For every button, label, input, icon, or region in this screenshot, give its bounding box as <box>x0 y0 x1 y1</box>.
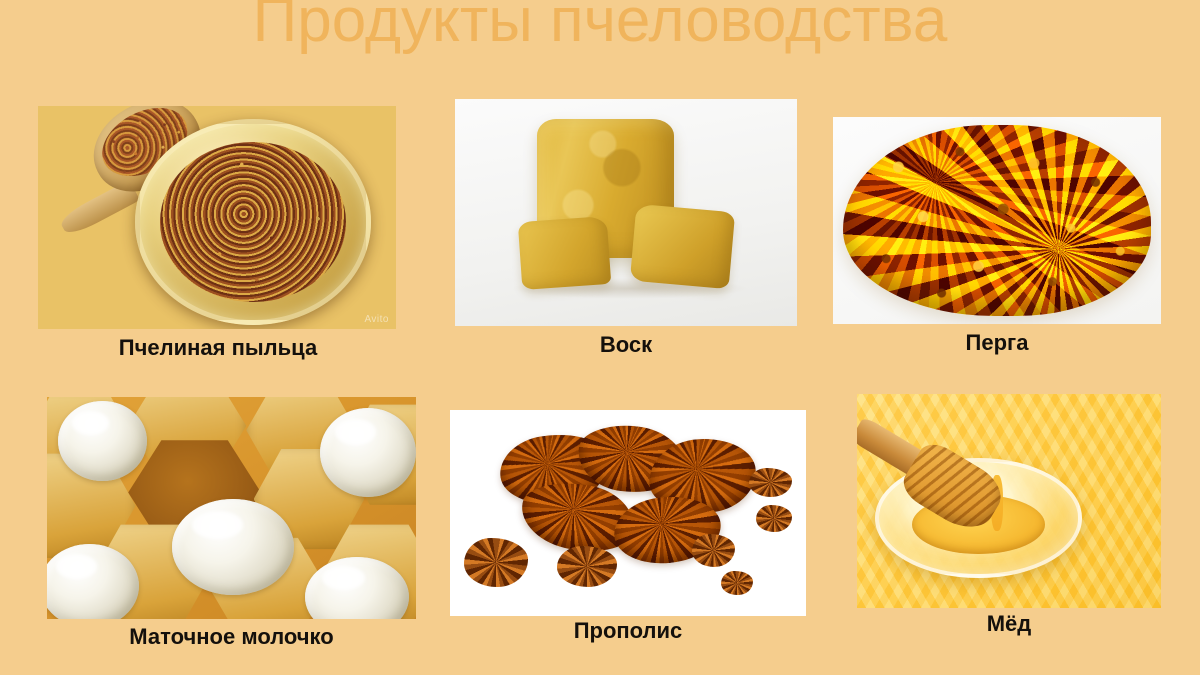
wax-chunk-right-shape <box>630 204 736 290</box>
product-image-royal-jelly <box>47 397 416 619</box>
product-card-wax: Воск <box>455 99 797 326</box>
product-caption-propolis: Прополис <box>450 617 806 645</box>
glass-jar-shape <box>135 119 371 324</box>
product-image-wax <box>455 99 797 326</box>
product-image-propolis <box>450 410 806 616</box>
product-card-honey: Мёд <box>857 394 1161 608</box>
propolis-crumb-shape <box>721 571 753 596</box>
propolis-crumb-shape <box>464 538 528 587</box>
propolis-crumb-shape <box>692 534 735 567</box>
propolis-crumb-shape <box>557 546 618 587</box>
product-caption-perga: Перга <box>833 329 1161 357</box>
royal-jelly-larva-shape <box>320 408 416 497</box>
product-card-pollen: Avito Пчелиная пыльца <box>38 106 398 329</box>
product-image-perga <box>833 117 1161 324</box>
royal-jelly-larva-shape <box>58 401 147 481</box>
propolis-photo-art <box>450 410 806 616</box>
royal-jelly-photo-art <box>47 397 416 619</box>
avito-watermark: Avito <box>364 314 389 325</box>
slide-canvas: Продукты пчеловодства Avito Пчелиная пыл… <box>0 0 1200 675</box>
product-image-pollen: Avito <box>38 106 396 329</box>
product-caption-royal-jelly: Маточное молочко <box>47 623 416 651</box>
product-caption-wax: Воск <box>455 331 797 359</box>
product-card-propolis: Прополис <box>450 410 806 616</box>
page-title: Продукты пчеловодства <box>0 0 1200 56</box>
wax-photo-art <box>455 99 797 326</box>
product-card-perga: Перга <box>833 117 1161 324</box>
perga-photo-art <box>833 117 1161 324</box>
product-card-royal-jelly: Маточное молочко <box>47 397 416 619</box>
propolis-crumb-shape <box>756 505 792 532</box>
royal-jelly-larva-shape <box>172 499 294 594</box>
product-caption-honey: Мёд <box>857 610 1161 638</box>
wax-chunk-left-shape <box>518 216 611 290</box>
pollen-photo-art: Avito <box>38 106 396 329</box>
perga-granule-pile-shape <box>843 125 1151 315</box>
product-caption-pollen: Пчелиная пыльца <box>38 334 398 362</box>
propolis-crumb-shape <box>749 468 792 497</box>
honey-photo-art <box>857 394 1161 608</box>
product-image-honey <box>857 394 1161 608</box>
